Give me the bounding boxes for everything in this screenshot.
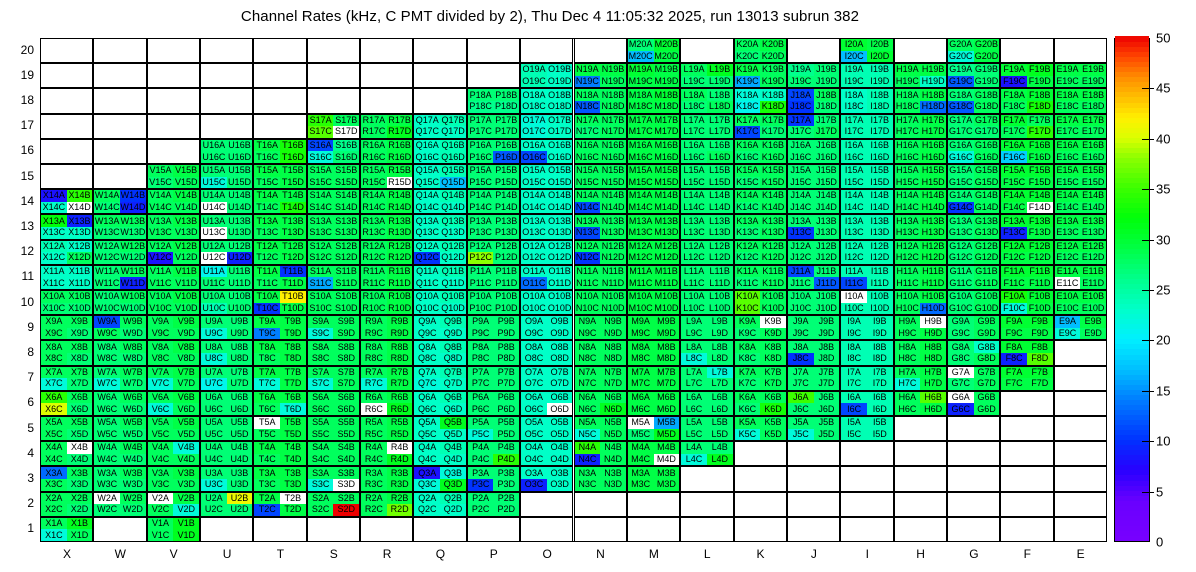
channel-U10D: U10D bbox=[227, 303, 253, 315]
channel-R17D: R17D bbox=[387, 126, 413, 138]
heatmap-cell-P8: P8AP8BP8CP8D bbox=[467, 340, 520, 365]
channel-Q6A: Q6A bbox=[414, 392, 440, 404]
channel-H14A: H14A bbox=[895, 190, 921, 202]
cell-row-ab: O13AO13B bbox=[521, 215, 572, 227]
channel-L13A: L13A bbox=[681, 215, 707, 227]
channel-O16C: O16C bbox=[521, 151, 547, 163]
channel-U15D: U15D bbox=[227, 177, 253, 189]
channel-G10B: G10B bbox=[974, 291, 1000, 303]
heatmap-cell-U12: U12AU12BU12CU12D bbox=[200, 240, 253, 265]
channel-T9A: T9A bbox=[254, 316, 280, 328]
cell-row-cd: S8CS8D bbox=[308, 353, 359, 365]
heatmap-cell-U2: U2AU2BU2CU2D bbox=[200, 492, 253, 517]
channel-U7B: U7B bbox=[227, 367, 253, 379]
cell-row-cd: S16CS16D bbox=[308, 151, 359, 163]
channel-T10A: T10A bbox=[254, 291, 280, 303]
heatmap-cell-M10: M10AM10BM10CM10D bbox=[627, 290, 680, 315]
channel-Q10A: Q10A bbox=[414, 291, 440, 303]
heatmap-cell-H12: H12AH12BH12CH12D bbox=[894, 240, 947, 265]
channel-H15B: H15B bbox=[920, 165, 946, 177]
cell-row-ab: L8AL8B bbox=[681, 341, 732, 353]
cell-row-cd: I10CI10D bbox=[841, 303, 892, 315]
channel-X7B: X7B bbox=[67, 367, 93, 379]
heatmap-cell-H5 bbox=[894, 416, 947, 441]
channel-V8D: V8D bbox=[173, 353, 199, 365]
channel-Q3B: Q3B bbox=[440, 467, 466, 479]
channel-X14D: X14D bbox=[67, 202, 93, 214]
channel-U13B: U13B bbox=[227, 215, 253, 227]
cell-row-cd: H18CH18D bbox=[895, 101, 946, 113]
cell-row-cd: S13CS13D bbox=[308, 227, 359, 239]
cell-row-cd: H10CH10D bbox=[895, 303, 946, 315]
heatmap-cell-G20: G20AG20BG20CG20D bbox=[947, 38, 1000, 63]
cell-row-ab: O7AO7B bbox=[521, 367, 572, 379]
channel-U9D: U9D bbox=[227, 328, 253, 340]
colorbar-band bbox=[1115, 354, 1149, 360]
heatmap-cell-Q13: Q13AQ13BQ13CQ13D bbox=[413, 214, 466, 239]
channel-N5C: N5C bbox=[575, 429, 601, 441]
channel-H17A: H17A bbox=[895, 115, 921, 127]
channel-R12A: R12A bbox=[361, 241, 387, 253]
channel-G12C: G12C bbox=[948, 252, 974, 264]
cell-row-ab: N9AN9B bbox=[575, 316, 626, 328]
channel-W5B: W5B bbox=[120, 417, 146, 429]
channel-K10A: K10A bbox=[735, 291, 761, 303]
channel-G19C: G19C bbox=[948, 76, 974, 88]
colorbar-band bbox=[1115, 77, 1149, 83]
heatmap-cell-Q2: Q2AQ2BQ2CQ2D bbox=[413, 492, 466, 517]
colorbar-band bbox=[1115, 535, 1149, 541]
channel-S14D: S14D bbox=[333, 202, 359, 214]
channel-E16C: E16C bbox=[1055, 151, 1081, 163]
channel-R17A: R17A bbox=[361, 115, 387, 127]
channel-I13D: I13D bbox=[867, 227, 893, 239]
channel-V9A: V9A bbox=[148, 316, 174, 328]
cell-row-cd: I11CI11D bbox=[841, 277, 892, 289]
channel-V8C: V8C bbox=[148, 353, 174, 365]
cell-row-cd: N5CN5D bbox=[575, 429, 626, 441]
channel-V3B: V3B bbox=[173, 467, 199, 479]
cell-row-cd: U9CU9D bbox=[201, 328, 252, 340]
channel-E16A: E16A bbox=[1055, 140, 1081, 152]
colorbar-band bbox=[1115, 455, 1149, 461]
channel-S11A: S11A bbox=[308, 266, 334, 278]
heatmap-cell-G19: G19AG19BG19CG19D bbox=[947, 63, 1000, 88]
channel-E12C: E12C bbox=[1055, 252, 1081, 264]
colorbar-tick-10: 10 bbox=[1156, 434, 1170, 449]
cell-row-ab: E14AE14B bbox=[1055, 190, 1106, 202]
cell-row-ab: L15AL15B bbox=[681, 165, 732, 177]
channel-J18D: J18D bbox=[814, 101, 840, 113]
heatmap-cell-F13: F13AF13BF13CF13D bbox=[1000, 214, 1053, 239]
cell-row-ab: N19AN19B bbox=[575, 64, 626, 76]
channel-N14B: N14B bbox=[600, 190, 626, 202]
channel-Q12C: Q12C bbox=[414, 252, 440, 264]
colorbar-band bbox=[1115, 162, 1149, 168]
channel-O8A: O8A bbox=[521, 341, 547, 353]
heatmap-cell-X13: X13AX13BX13CX13D bbox=[40, 214, 93, 239]
cell-row-cd: R11CR11D bbox=[361, 277, 412, 289]
heatmap-cell-I9: I9AI9BI9CI9D bbox=[840, 315, 893, 340]
cell-row-cd: J13CJ13D bbox=[788, 227, 839, 239]
heatmap-cell-V11: V11AV11BV11CV11D bbox=[147, 265, 200, 290]
channel-G7B: G7B bbox=[974, 367, 1000, 379]
channel-F18C: F18C bbox=[1001, 101, 1027, 113]
heatmap-cell-F10: F10AF10BF10CF10D bbox=[1000, 290, 1053, 315]
channel-X2C: X2C bbox=[41, 504, 67, 516]
channel-K15A: K15A bbox=[735, 165, 761, 177]
channel-U15A: U15A bbox=[201, 165, 227, 177]
channel-W10A: W10A bbox=[94, 291, 120, 303]
channel-Q9B: Q9B bbox=[440, 316, 466, 328]
channel-W9B: W9B bbox=[120, 316, 146, 328]
cell-row-cd: H12CH12D bbox=[895, 252, 946, 264]
channel-G13C: G13C bbox=[948, 227, 974, 239]
heatmap-cell-O4: O4AO4BO4CO4D bbox=[520, 441, 573, 466]
cell-row-cd: M19CM19D bbox=[628, 76, 679, 88]
channel-I17A: I17A bbox=[841, 115, 867, 127]
cell-row-cd: R4CR4D bbox=[361, 454, 412, 466]
channel-M19D: M19D bbox=[654, 76, 680, 88]
channel-V14A: V14A bbox=[148, 190, 174, 202]
cell-row-ab: K14AK14B bbox=[735, 190, 786, 202]
cell-row-cd: W11CW11D bbox=[94, 277, 145, 289]
heatmap-cell-K18: K18AK18BK18CK18D bbox=[734, 88, 787, 113]
heatmap-cell-U10: U10AU10BU10CU10D bbox=[200, 290, 253, 315]
channel-N18C: N18C bbox=[575, 101, 601, 113]
heatmap-cell-T18 bbox=[253, 88, 306, 113]
channel-N15A: N15A bbox=[575, 165, 601, 177]
cell-row-cd: E10CE10D bbox=[1055, 303, 1106, 315]
colorbar-tick-45: 45 bbox=[1156, 81, 1170, 96]
cell-row-ab: W7AW7B bbox=[94, 367, 145, 379]
cell-row-ab: Q14AQ14B bbox=[414, 190, 465, 202]
colorbar-band bbox=[1115, 132, 1149, 138]
cell-row-cd: L4CL4D bbox=[681, 454, 732, 466]
heatmap-cell-V14: V14AV14BV14CV14D bbox=[147, 189, 200, 214]
channel-R4B: R4B bbox=[387, 442, 413, 454]
channel-F15C: F15C bbox=[1001, 177, 1027, 189]
cell-row-cd: I7CI7D bbox=[841, 378, 892, 390]
heatmap-cell-X15 bbox=[40, 164, 93, 189]
channel-S12C: S12C bbox=[308, 252, 334, 264]
cell-row-cd: P6CP6D bbox=[468, 403, 519, 415]
channel-V12C: V12C bbox=[148, 252, 174, 264]
channel-I14A: I14A bbox=[841, 190, 867, 202]
cell-row-ab: K6AK6B bbox=[735, 392, 786, 404]
heatmap-cell-H6: H6AH6BH6CH6D bbox=[894, 391, 947, 416]
cell-row-cd: J12CJ12D bbox=[788, 252, 839, 264]
channel-M4C: M4C bbox=[628, 454, 654, 466]
channel-T2C: T2C bbox=[254, 504, 280, 516]
heatmap-cell-I19: I19AI19BI19CI19D bbox=[840, 63, 893, 88]
channel-T15A: T15A bbox=[254, 165, 280, 177]
channel-O11C: O11C bbox=[521, 277, 547, 289]
cell-row-ab: G6AG6B bbox=[948, 392, 999, 404]
cell-row-cd: H15CH15D bbox=[895, 177, 946, 189]
channel-O19A: O19A bbox=[521, 64, 547, 76]
channel-P2D: P2D bbox=[493, 504, 519, 516]
cell-row-cd: W9CW9D bbox=[94, 328, 145, 340]
channel-J6C: J6C bbox=[788, 403, 814, 415]
channel-F13A: F13A bbox=[1001, 215, 1027, 227]
cell-row-cd: V14CV14D bbox=[148, 202, 199, 214]
channel-G10A: G10A bbox=[948, 291, 974, 303]
cell-row-cd: T12CT12D bbox=[254, 252, 305, 264]
cell-row-ab: M11AM11B bbox=[628, 266, 679, 278]
channel-P18C: P18C bbox=[468, 101, 494, 113]
cell-row-ab: X7AX7B bbox=[41, 367, 92, 379]
heatmap-cell-J3 bbox=[787, 466, 840, 491]
cell-row-ab: E13AE13B bbox=[1055, 215, 1106, 227]
channel-Q8C: Q8C bbox=[414, 353, 440, 365]
channel-Q7C: Q7C bbox=[414, 378, 440, 390]
channel-G9D: G9D bbox=[974, 328, 1000, 340]
heatmap-cell-S16: S16AS16BS16CS16D bbox=[307, 139, 360, 164]
channel-O3A: O3A bbox=[521, 467, 547, 479]
cell-row-ab: L9AL9B bbox=[681, 316, 732, 328]
heatmap-cell-F1 bbox=[1000, 517, 1053, 542]
heatmap-cell-G9: G9AG9BG9CG9D bbox=[947, 315, 1000, 340]
heatmap-cell-N11: N11AN11BN11CN11D bbox=[574, 265, 627, 290]
channel-Q14A: Q14A bbox=[414, 190, 440, 202]
cell-row-cd: Q6CQ6D bbox=[414, 403, 465, 415]
cell-row-cd: M9CM9D bbox=[628, 328, 679, 340]
cell-row-ab: P8AP8B bbox=[468, 341, 519, 353]
cell-row-ab: U16AU16B bbox=[201, 140, 252, 152]
colorbar-band bbox=[1115, 435, 1149, 441]
heatmap-cell-G10: G10AG10BG10CG10D bbox=[947, 290, 1000, 315]
channel-I5A: I5A bbox=[841, 417, 867, 429]
channel-E16B: E16B bbox=[1080, 140, 1106, 152]
channel-H13D: H13D bbox=[920, 227, 946, 239]
channel-P16A: P16A bbox=[468, 140, 494, 152]
heatmap-cell-W4: W4AW4BW4CW4D bbox=[93, 441, 146, 466]
cell-row-cd: W13CW13D bbox=[94, 227, 145, 239]
cell-row-cd: E18CE18D bbox=[1055, 101, 1106, 113]
channel-V8B: V8B bbox=[173, 341, 199, 353]
channel-W8A: W8A bbox=[94, 341, 120, 353]
cell-row-ab: H6AH6B bbox=[895, 392, 946, 404]
heatmap-cell-O12: O12AO12BO12CO12D bbox=[520, 240, 573, 265]
channel-O18A: O18A bbox=[521, 89, 547, 101]
cell-row-ab: X8AX8B bbox=[41, 341, 92, 353]
channel-N9D: N9D bbox=[600, 328, 626, 340]
channel-N13B: N13B bbox=[600, 215, 626, 227]
heatmap-cell-M19: M19AM19BM19CM19D bbox=[627, 63, 680, 88]
channel-Q17A: Q17A bbox=[414, 115, 440, 127]
cell-row-cd: P8CP8D bbox=[468, 353, 519, 365]
channel-N16B: N16B bbox=[600, 140, 626, 152]
channel-R16B: R16B bbox=[387, 140, 413, 152]
channel-R7D: R7D bbox=[387, 378, 413, 390]
heatmap-cell-N9: N9AN9BN9CN9D bbox=[574, 315, 627, 340]
heatmap-cell-L3 bbox=[680, 466, 733, 491]
channel-M4B: M4B bbox=[654, 442, 680, 454]
y-tick-9: 9 bbox=[6, 320, 34, 334]
channel-M15C: M15C bbox=[628, 177, 654, 189]
channel-I15D: I15D bbox=[867, 177, 893, 189]
channel-L17C: L17C bbox=[681, 126, 707, 138]
channel-L12D: L12D bbox=[707, 252, 733, 264]
cell-row-cd: H9CH9D bbox=[895, 328, 946, 340]
channel-T7D: T7D bbox=[280, 378, 306, 390]
cell-row-cd: S4CS4D bbox=[308, 454, 359, 466]
channel-O13A: O13A bbox=[521, 215, 547, 227]
channel-Q7A: Q7A bbox=[414, 367, 440, 379]
channel-X6D: X6D bbox=[67, 403, 93, 415]
heatmap-cell-W7: W7AW7BW7CW7D bbox=[93, 366, 146, 391]
channel-X9B: X9B bbox=[67, 316, 93, 328]
colorbar-band bbox=[1115, 293, 1149, 299]
channel-N7B: N7B bbox=[600, 367, 626, 379]
heatmap-cell-J19: J19AJ19BJ19CJ19D bbox=[787, 63, 840, 88]
heatmap-cell-T17 bbox=[253, 114, 306, 139]
cell-row-cd: I18CI18D bbox=[841, 101, 892, 113]
heatmap-cell-U18 bbox=[200, 88, 253, 113]
channel-E11D: E11D bbox=[1080, 277, 1106, 289]
cell-row-ab: F14AF14B bbox=[1001, 190, 1052, 202]
heatmap-cell-M8: M8AM8BM8CM8D bbox=[627, 340, 680, 365]
heatmap-cell-P18: P18AP18BP18CP18D bbox=[467, 88, 520, 113]
heatmap-cell-P13: P13AP13BP13CP13D bbox=[467, 214, 520, 239]
channel-M3D: M3D bbox=[654, 479, 680, 491]
cell-row-cd: N19CN19D bbox=[575, 76, 626, 88]
heatmap-cell-P7: P7AP7BP7CP7D bbox=[467, 366, 520, 391]
cell-row-ab: M19AM19B bbox=[628, 64, 679, 76]
channel-I11D: I11D bbox=[867, 277, 893, 289]
cell-row-cd: T4CT4D bbox=[254, 454, 305, 466]
channel-P5B: P5B bbox=[493, 417, 519, 429]
cell-row-cd: P3CP3D bbox=[468, 479, 519, 491]
channel-I20B: I20B bbox=[867, 39, 893, 51]
channel-K14A: K14A bbox=[735, 190, 761, 202]
heatmap-cell-E3 bbox=[1054, 466, 1107, 491]
colorbar-band bbox=[1115, 283, 1149, 289]
heatmap-cell-S14: S14AS14BS14CS14D bbox=[307, 189, 360, 214]
cell-row-ab: E18AE18B bbox=[1055, 89, 1106, 101]
channel-S3D: S3D bbox=[333, 479, 359, 491]
channel-M6C: M6C bbox=[628, 403, 654, 415]
channel-O12D: O12D bbox=[547, 252, 573, 264]
channel-O4B: O4B bbox=[547, 442, 573, 454]
channel-I5B: I5B bbox=[867, 417, 893, 429]
channel-K15C: K15C bbox=[735, 177, 761, 189]
channel-T4B: T4B bbox=[280, 442, 306, 454]
channel-I18D: I18D bbox=[867, 101, 893, 113]
heatmap-cell-J6: J6AJ6BJ6CJ6D bbox=[787, 391, 840, 416]
channel-Q8A: Q8A bbox=[414, 341, 440, 353]
channel-W5C: W5C bbox=[94, 429, 120, 441]
channel-U11A: U11A bbox=[201, 266, 227, 278]
cell-row-cd: L13CL13D bbox=[681, 227, 732, 239]
channel-E19D: E19D bbox=[1080, 76, 1106, 88]
cell-row-cd: U16CU16D bbox=[201, 151, 252, 163]
cell-row-ab: G15AG15B bbox=[948, 165, 999, 177]
cell-row-cd: J7CJ7D bbox=[788, 378, 839, 390]
cell-row-ab: N18AN18B bbox=[575, 89, 626, 101]
channel-N14C: N14C bbox=[575, 202, 601, 214]
channel-N8C: N8C bbox=[575, 353, 601, 365]
cell-row-ab: N4AN4B bbox=[575, 442, 626, 454]
heatmap-cell-R2: R2AR2BR2CR2D bbox=[360, 492, 413, 517]
channel-G11B: G11B bbox=[974, 266, 1000, 278]
heatmap-cell-J12: J12AJ12BJ12CJ12D bbox=[787, 240, 840, 265]
channel-J8B: J8B bbox=[814, 341, 840, 353]
heatmap-cell-J1 bbox=[787, 517, 840, 542]
heatmap-cell-E1 bbox=[1054, 517, 1107, 542]
cell-row-cd: E12CE12D bbox=[1055, 252, 1106, 264]
channel-G19B: G19B bbox=[974, 64, 1000, 76]
channel-W11A: W11A bbox=[94, 266, 120, 278]
cell-row-cd: S11CS11D bbox=[308, 277, 359, 289]
channel-R3D: R3D bbox=[387, 479, 413, 491]
colorbar-band bbox=[1115, 36, 1149, 42]
channel-N16D: N16D bbox=[600, 151, 626, 163]
cell-row-ab: I7AI7B bbox=[841, 367, 892, 379]
channel-K7B: K7B bbox=[760, 367, 786, 379]
colorbar-tick-mark bbox=[1142, 189, 1154, 190]
channel-I8B: I8B bbox=[867, 341, 893, 353]
channel-X7C: X7C bbox=[41, 378, 67, 390]
cell-row-ab: S12AS12B bbox=[308, 241, 359, 253]
channel-H15A: H15A bbox=[895, 165, 921, 177]
colorbar-band bbox=[1115, 319, 1149, 325]
colorbar-band bbox=[1115, 299, 1149, 305]
cell-row-cd: H13CH13D bbox=[895, 227, 946, 239]
colorbar-band bbox=[1115, 309, 1149, 315]
channel-H10B: H10B bbox=[920, 291, 946, 303]
channel-I13C: I13C bbox=[841, 227, 867, 239]
channel-F13D: F13D bbox=[1027, 227, 1053, 239]
channel-V6B: V6B bbox=[173, 392, 199, 404]
cell-row-ab: L6AL6B bbox=[681, 392, 732, 404]
cell-row-ab: M20AM20B bbox=[628, 39, 679, 51]
channel-E11C: E11C bbox=[1055, 277, 1081, 289]
colorbar-band bbox=[1115, 47, 1149, 53]
cell-row-ab: K12AK12B bbox=[735, 241, 786, 253]
heatmap-cell-Q19 bbox=[413, 63, 466, 88]
channel-U2C: U2C bbox=[201, 504, 227, 516]
cell-row-cd: I13CI13D bbox=[841, 227, 892, 239]
colorbar-band bbox=[1115, 243, 1149, 249]
channel-L17A: L17A bbox=[681, 115, 707, 127]
channel-L18C: L18C bbox=[681, 101, 707, 113]
channel-N17B: N17B bbox=[600, 115, 626, 127]
channel-M11A: M11A bbox=[628, 266, 654, 278]
cell-row-ab: P14AP14B bbox=[468, 190, 519, 202]
channel-M14B: M14B bbox=[654, 190, 680, 202]
heatmap-cell-J5: J5AJ5BJ5CJ5D bbox=[787, 416, 840, 441]
cell-row-ab: J8AJ8B bbox=[788, 341, 839, 353]
channel-E11B: E11B bbox=[1080, 266, 1106, 278]
heatmap-cell-N6: N6AN6BN6CN6D bbox=[574, 391, 627, 416]
channel-O9A: O9A bbox=[521, 316, 547, 328]
channel-T4D: T4D bbox=[280, 454, 306, 466]
colorbar-band bbox=[1115, 379, 1149, 385]
cell-row-ab: I16AI16B bbox=[841, 140, 892, 152]
channel-K17A: K17A bbox=[735, 115, 761, 127]
colorbar-band bbox=[1115, 500, 1149, 506]
channel-X1B: X1B bbox=[67, 518, 93, 530]
channel-I12D: I12D bbox=[867, 252, 893, 264]
channel-X8B: X8B bbox=[67, 341, 93, 353]
cell-row-cd: R8CR8D bbox=[361, 353, 412, 365]
channel-L11C: L11C bbox=[681, 277, 707, 289]
cell-row-cd: T3CT3D bbox=[254, 479, 305, 491]
heatmap-cell-R9: R9AR9BR9CR9D bbox=[360, 315, 413, 340]
channel-H14D: H14D bbox=[920, 202, 946, 214]
